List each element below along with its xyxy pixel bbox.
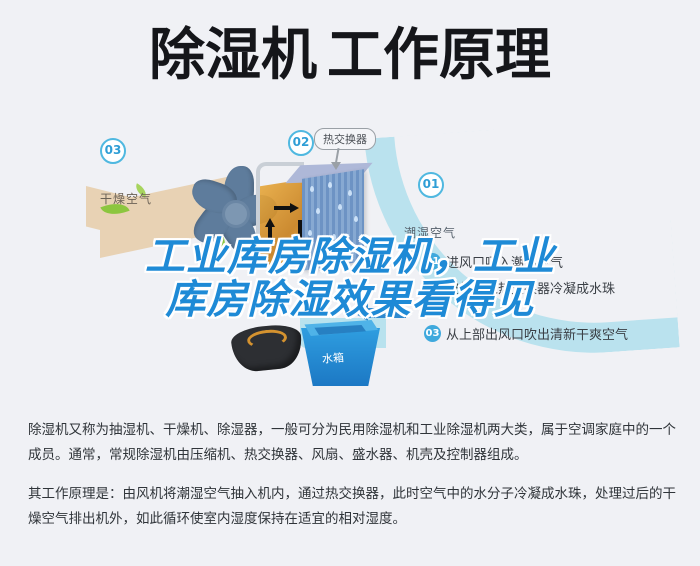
title-part-working-principle: 工作原理	[327, 23, 551, 88]
infographic-page: 除湿机工作原理 干燥空气	[0, 0, 700, 566]
body-paragraph-1: 除湿机又称为抽湿机、干燥机、除湿器，一般可分为民用除湿机和工业除湿机两大类，属于…	[28, 418, 676, 468]
water-tank-illustration: 水箱	[296, 320, 380, 386]
flow-arrow-up-icon	[265, 218, 275, 227]
fan-hub	[222, 200, 250, 228]
body-text-block: 除湿机又称为抽湿机、干燥机、除湿器，一般可分为民用除湿机和工业除湿机两大类，属于…	[28, 418, 676, 532]
legend-number: 01	[424, 253, 441, 270]
diagram-stage: 干燥空气	[0, 120, 700, 400]
flow-arrow-stem	[274, 206, 290, 210]
water-tank-label: 水箱	[321, 349, 344, 366]
callout-heat-exchanger: 热交换器	[314, 128, 376, 150]
legend-number: 03	[424, 325, 441, 342]
badge-01: 01	[418, 172, 444, 198]
body-paragraph-2: 其工作原理是：由风机将潮湿空气抽入机内，通过热交换器，此时空气中的水分子冷凝成水…	[28, 482, 676, 532]
compressor-illustration	[230, 322, 304, 373]
legend-text: 进风口吸入潮湿空气	[446, 252, 563, 271]
heat-exchanger-illustration	[272, 160, 382, 268]
legend-text: 空气经过热交换器冷凝成水珠	[446, 278, 615, 297]
title-part-dehumidifier: 除湿机	[149, 23, 317, 88]
legend-list: 01 进风口吸入潮湿空气 02 空气经过热交换器冷凝成水珠 03 从上部出风口吹…	[424, 248, 700, 346]
legend-item: 01 进风口吸入潮湿空气	[424, 248, 700, 274]
callout-pointer-icon	[331, 162, 341, 170]
legend-item: 03 从上部出风口吹出清新干爽空气	[424, 320, 700, 346]
dry-air-label: 干燥空气	[100, 190, 152, 207]
flow-arrow-stem	[268, 226, 272, 242]
legend-number: 02	[424, 279, 441, 296]
compressor-coil-ring	[246, 328, 288, 350]
legend-item: 02 空气经过热交换器冷凝成水珠	[424, 274, 700, 300]
badge-02: 02	[288, 130, 314, 156]
intake-air-arrow-icon	[352, 304, 406, 320]
flow-arrow-right-icon	[290, 203, 299, 213]
legend-text: 从上部出风口吹出清新干爽空气	[446, 324, 628, 343]
badge-03: 03	[100, 138, 126, 164]
humid-air-label: 潮湿空气	[404, 224, 456, 241]
condensation-droplets	[304, 178, 362, 264]
page-title: 除湿机工作原理	[0, 28, 700, 84]
